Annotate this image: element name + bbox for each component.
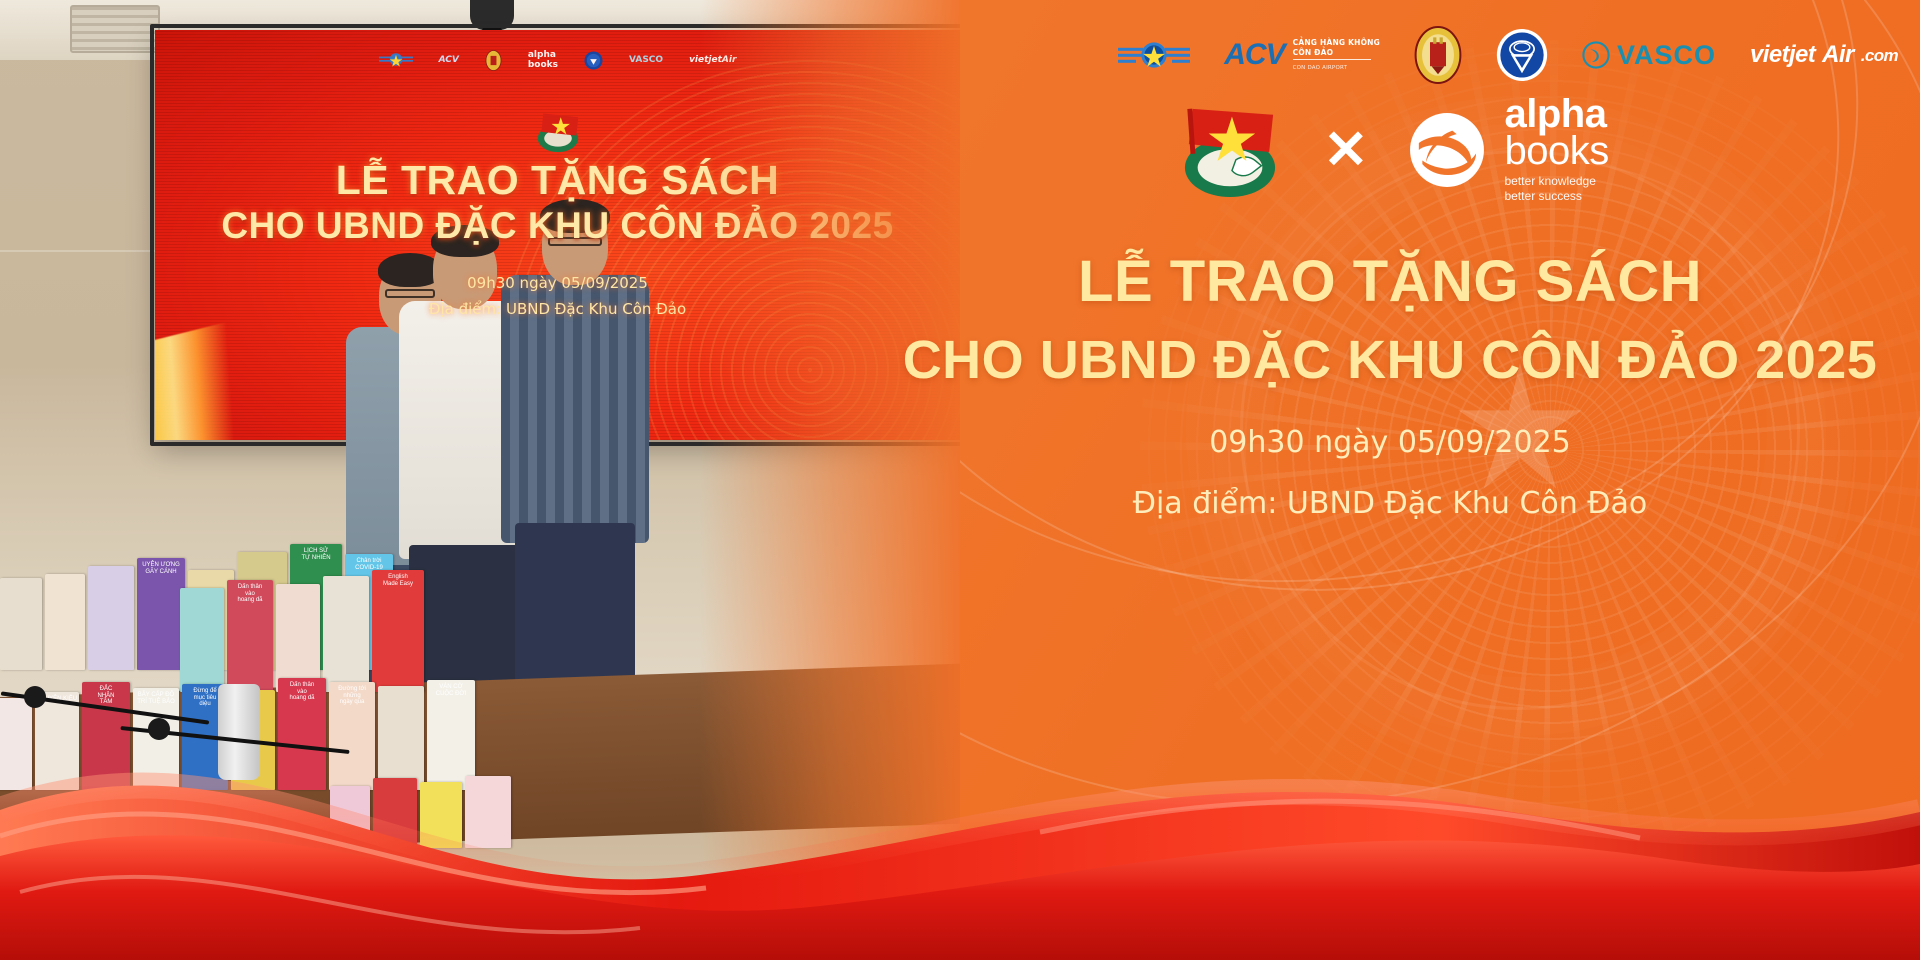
alpha-tagline: better knowledge better success — [1505, 174, 1609, 204]
book-item — [323, 576, 369, 692]
event-time: 09h30 ngày 05/09/2025 — [860, 420, 1920, 465]
brand-row: ✕ alpha books better knowledge better su… — [860, 90, 1920, 210]
book-item: Dấn thânvàohoang dã — [278, 678, 326, 790]
led-vasco-logo: VASCO — [629, 47, 663, 73]
logo-vasco: VASCO — [1582, 41, 1716, 69]
caav-logo-icon — [379, 52, 413, 68]
book-item: ĐẮCNHÂNTÂM — [82, 682, 130, 790]
logo-vietjet: vietjetAir.com — [1750, 43, 1898, 67]
acv-sublabel: CẢNG HÀNG KHÔNG CÔN ĐẢO CON DAO AIRPORT — [1293, 38, 1380, 72]
led-vatm-logo-icon — [584, 51, 603, 70]
vasco-wordmark: VASCO — [1617, 42, 1716, 69]
microphone-head-2 — [148, 718, 170, 740]
logo-caav — [1118, 38, 1190, 72]
caav-logo-icon — [1118, 38, 1190, 72]
poster-meta: 09h30 ngày 05/09/2025 Địa điểm: UBND Đặc… — [860, 420, 1920, 526]
immigration-logo-icon — [1414, 26, 1462, 84]
book-item: EnglishMade Easy — [372, 570, 424, 692]
books-row-mid: Dấn thânvàohoang dã EnglishMade Easy — [180, 570, 424, 692]
alpha-word: alpha — [1505, 96, 1609, 133]
alpha-tagline-2: better success — [1505, 189, 1582, 203]
book-item — [88, 566, 134, 670]
acv-wordmark: ACV — [1224, 40, 1284, 70]
event-location: Địa điểm: UBND Đặc Khu Côn Đảo — [860, 481, 1920, 526]
youth-union-logo-icon — [1171, 101, 1289, 199]
vasco-mark-icon — [1582, 41, 1610, 69]
book-item — [420, 782, 462, 848]
poster-info-panel: ACV CẢNG HÀNG KHÔNG CÔN ĐẢO CON DAO AIRP… — [860, 0, 1920, 960]
acv-sub-line1: CẢNG HÀNG KHÔNG — [1293, 38, 1380, 47]
vietjet-air-word: Air — [1822, 43, 1854, 67]
book-item — [465, 776, 511, 848]
thermos-bottle — [218, 684, 260, 780]
microphone-head-1 — [24, 686, 46, 708]
acv-sub-line2: CÔN ĐẢO — [1293, 48, 1334, 57]
book-item — [0, 578, 42, 670]
book-item: Đường tớinhữngngày qua — [329, 682, 375, 790]
led-immigration-logo-icon — [485, 50, 502, 71]
alpha-books-mark-icon — [1403, 106, 1491, 194]
book-item — [180, 588, 224, 692]
headline-line2: CHO UBND ĐẶC KHU CÔN ĐẢO 2025 — [860, 328, 1920, 393]
poster-canvas: ACV alphabooks VASCO vietjetAir — [0, 0, 1920, 960]
books-row-flat — [330, 776, 511, 848]
ceiling-vent — [70, 5, 160, 53]
book-item — [276, 584, 320, 692]
book-item — [0, 698, 32, 790]
event-photo: ACV alphabooks VASCO vietjetAir — [0, 0, 960, 960]
book-item: UYÊN ƯƠNGGÃY CÁNH — [137, 558, 185, 670]
book-item — [373, 778, 417, 848]
poster-headline: LỄ TRAO TẶNG SÁCH CHO UBND ĐẶC KHU CÔN Đ… — [860, 248, 1920, 393]
alpha-tagline-1: better knowledge — [1505, 174, 1596, 188]
book-item — [378, 686, 424, 790]
vietjet-wordmark: vietjet — [1750, 43, 1815, 67]
logo-vatm — [1496, 28, 1548, 82]
book-item — [45, 574, 85, 670]
book-item: Dấn thânvàohoang dã — [227, 580, 273, 692]
alpha-books-wordmark: alpha books better knowledge better succ… — [1505, 96, 1609, 205]
logo-immigration — [1414, 26, 1462, 84]
logo-acv: ACV CẢNG HÀNG KHÔNG CÔN ĐẢO CON DAO AIRP… — [1224, 38, 1380, 72]
led-youth-union-emblem — [530, 108, 586, 158]
acv-rule — [1293, 59, 1371, 60]
books-word: books — [1505, 132, 1609, 171]
book-item — [330, 786, 370, 848]
vatm-logo-icon — [1496, 28, 1548, 82]
headline-line1: LỄ TRAO TẶNG SÁCH — [860, 248, 1920, 316]
partner-logo-bar: ACV CẢNG HÀNG KHÔNG CÔN ĐẢO CON DAO AIRP… — [860, 24, 1920, 86]
vietjet-domain: .com — [1861, 47, 1898, 64]
x-separator: ✕ — [1323, 123, 1368, 177]
book-item: TRUYỆN KIỀU — [35, 692, 79, 790]
led-alpha-logo: alphabooks — [528, 47, 558, 73]
led-acv-logo: ACV — [439, 47, 459, 73]
logo-alpha-books: alpha books better knowledge better succ… — [1403, 96, 1609, 205]
acv-sub-tiny: CON DAO AIRPORT — [1293, 65, 1348, 71]
book-item: VÁN CỜCUỘC ĐỜI — [427, 680, 475, 790]
